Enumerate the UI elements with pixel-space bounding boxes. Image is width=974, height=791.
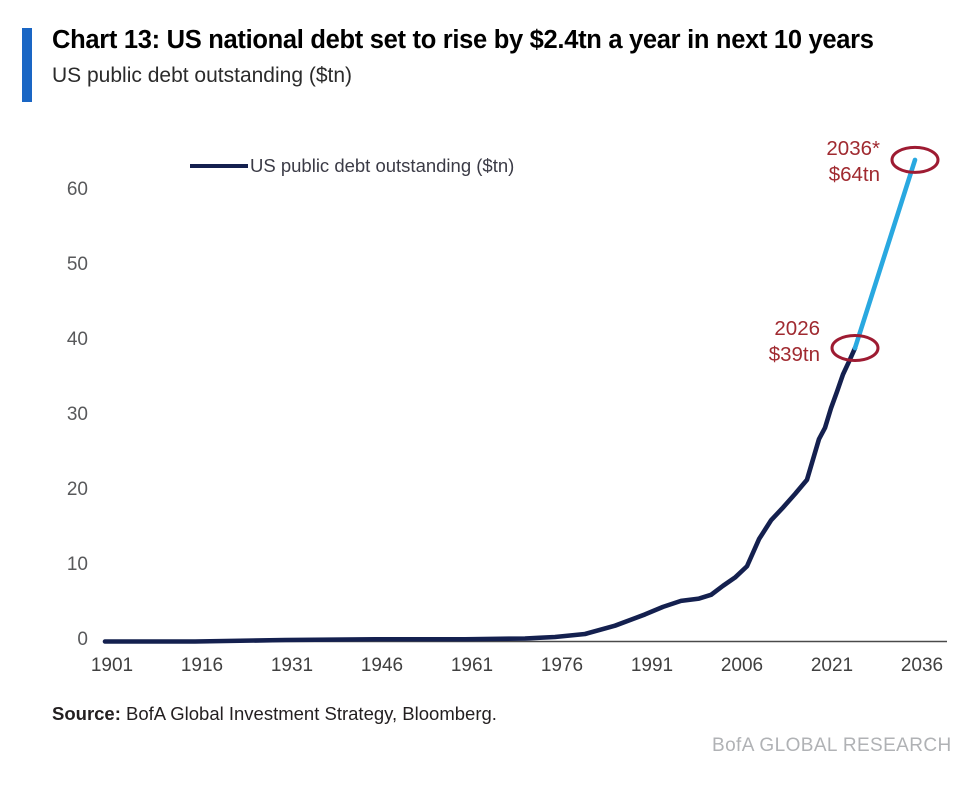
annotation-2036: 2036* $64tn	[700, 136, 880, 188]
x-tick-1901: 1901	[72, 655, 152, 677]
y-tick-20: 20	[42, 479, 88, 501]
annotation-2026: 2026 $39tn	[640, 316, 820, 368]
y-tick-10: 10	[42, 554, 88, 576]
chart-page: Chart 13: US national debt set to rise b…	[0, 0, 974, 791]
source-label: Source:	[52, 703, 121, 724]
chart-legend: US public debt outstanding ($tn)	[190, 155, 514, 177]
y-tick-0: 0	[42, 629, 88, 651]
annotation-2026-year: 2026	[640, 316, 820, 342]
source-note: Source: BofA Global Investment Strategy,…	[52, 703, 497, 725]
y-tick-50: 50	[42, 254, 88, 276]
brand-watermark: BofA GLOBAL RESEARCH	[712, 735, 952, 757]
series-line-actual	[105, 348, 855, 641]
chart-plot-area: 60 50 40 30 20 10 0 1901 1916 1931 1946 …	[0, 0, 974, 791]
legend-swatch-icon	[190, 164, 248, 168]
annotation-2036-value: $64tn	[700, 162, 880, 188]
y-tick-30: 30	[42, 404, 88, 426]
x-tick-1991: 1991	[612, 655, 692, 677]
y-tick-40: 40	[42, 329, 88, 351]
x-tick-2021: 2021	[792, 655, 872, 677]
x-tick-1976: 1976	[522, 655, 602, 677]
x-tick-1961: 1961	[432, 655, 512, 677]
x-tick-1916: 1916	[162, 655, 242, 677]
y-tick-60: 60	[42, 179, 88, 201]
series-line-forecast	[855, 160, 915, 348]
x-tick-1931: 1931	[252, 655, 332, 677]
source-text: BofA Global Investment Strategy, Bloombe…	[121, 703, 497, 724]
x-tick-1946: 1946	[342, 655, 422, 677]
x-tick-2006: 2006	[702, 655, 782, 677]
legend-label: US public debt outstanding ($tn)	[250, 155, 514, 177]
x-tick-2036: 2036	[882, 655, 962, 677]
annotation-2026-value: $39tn	[640, 342, 820, 368]
annotation-2036-year: 2036*	[700, 136, 880, 162]
